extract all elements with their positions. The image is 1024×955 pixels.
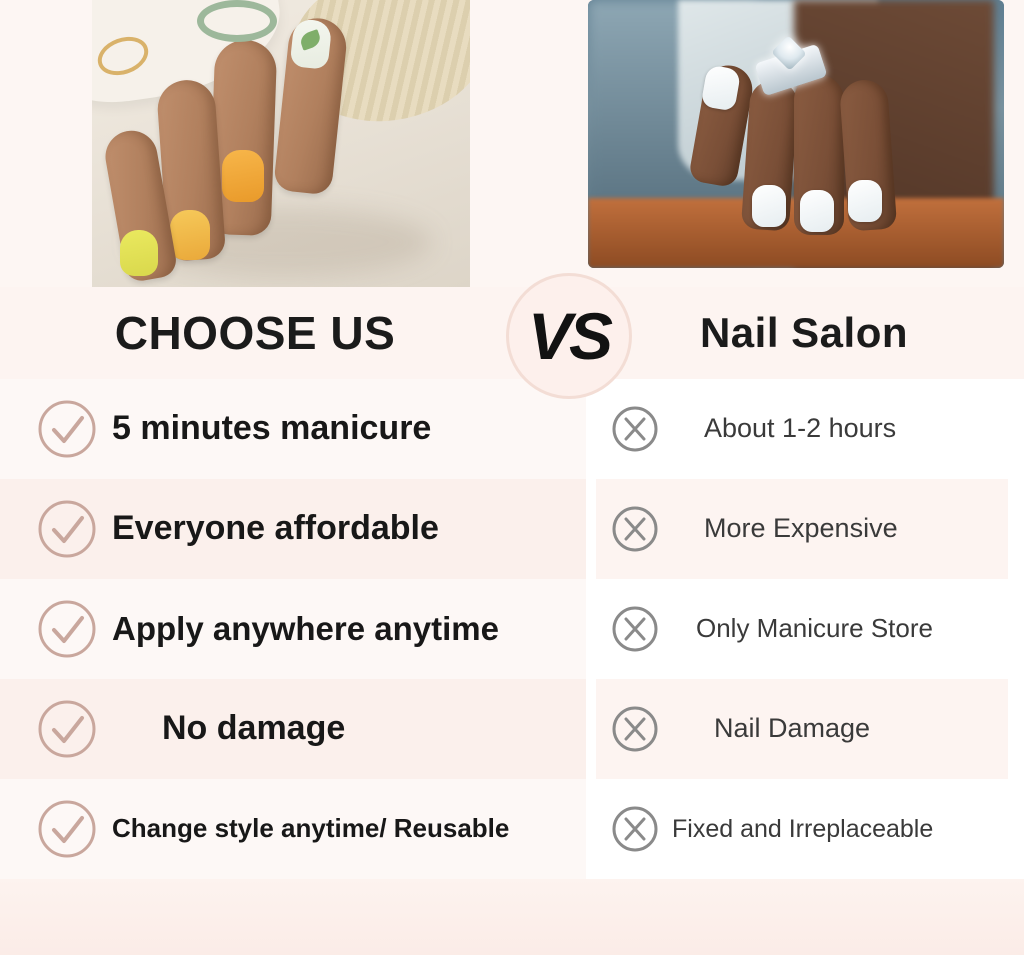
row-2-us-cell: Everyone affordable (0, 479, 586, 579)
footer-gradient (0, 879, 1024, 955)
check-circle-icon (36, 698, 98, 760)
comparison-poster: CHOOSE US VS Nail Salon 5 minutes manicu… (0, 0, 1024, 955)
table-row: No damage Nail Damage (0, 679, 1024, 779)
row-3-salon-cell: Only Manicure Store (596, 579, 1008, 679)
vs-label: VS (528, 298, 610, 374)
r-nail-ring (848, 180, 882, 222)
row-1-salon-cell: About 1-2 hours (596, 379, 1008, 479)
comparison-rows: 5 minutes manicure About 1-2 hours (0, 379, 1024, 879)
titles-band: CHOOSE US VS Nail Salon (0, 287, 1024, 379)
row-5-us-text: Change style anytime/ Reusable (112, 814, 509, 844)
row-2-salon-cell: More Expensive (596, 479, 1008, 579)
row-3-us-cell: Apply anywhere anytime (0, 579, 586, 679)
row-4-salon-cell: Nail Damage (596, 679, 1008, 779)
x-circle-icon (610, 804, 660, 854)
images-band (0, 0, 1024, 287)
x-circle-icon (610, 504, 660, 554)
table-row: Apply anywhere anytime Only Manicure Sto… (0, 579, 1024, 679)
right-title: Nail Salon (594, 287, 1014, 379)
row-4-us-text: No damage (162, 709, 345, 748)
row-2-us-text: Everyone affordable (112, 509, 439, 548)
row-5-salon-cell: Fixed and Irreplaceable (596, 779, 1008, 879)
r-nail-middle (800, 190, 834, 232)
green-ring (197, 0, 277, 42)
right-hand (698, 25, 928, 255)
leaf-art (298, 29, 322, 51)
row-5-us-cell: Change style anytime/ Reusable (0, 779, 586, 879)
row-1-us-cell: 5 minutes manicure (0, 379, 586, 479)
x-circle-icon (610, 604, 660, 654)
row-3-us-text: Apply anywhere anytime (112, 610, 499, 648)
row-2-salon-text: More Expensive (704, 513, 898, 544)
r-nail-index (752, 185, 786, 227)
check-circle-icon (36, 498, 98, 560)
table-row: 5 minutes manicure About 1-2 hours (0, 379, 1024, 479)
x-circle-icon (610, 704, 660, 754)
right-comparison-image (588, 0, 1004, 268)
nail-index (290, 18, 333, 70)
nail-ring (170, 210, 210, 260)
vs-badge: VS (506, 273, 632, 399)
row-1-salon-text: About 1-2 hours (704, 413, 896, 444)
left-title: CHOOSE US (0, 287, 510, 379)
check-circle-icon (36, 598, 98, 660)
left-hand (152, 10, 402, 287)
nail-middle (222, 150, 264, 202)
table-row: Everyone affordable More Expensive (0, 479, 1024, 579)
row-4-salon-text: Nail Damage (714, 713, 870, 744)
x-circle-icon (610, 404, 660, 454)
check-circle-icon (36, 398, 98, 460)
check-circle-icon (36, 798, 98, 860)
nail-pinky (120, 230, 158, 276)
row-1-us-text: 5 minutes manicure (112, 409, 431, 448)
table-row: Change style anytime/ Reusable Fixed and… (0, 779, 1024, 879)
row-4-us-cell: No damage (0, 679, 586, 779)
row-5-salon-text: Fixed and Irreplaceable (672, 815, 933, 844)
left-product-image (92, 0, 470, 287)
row-3-salon-text: Only Manicure Store (696, 614, 933, 644)
